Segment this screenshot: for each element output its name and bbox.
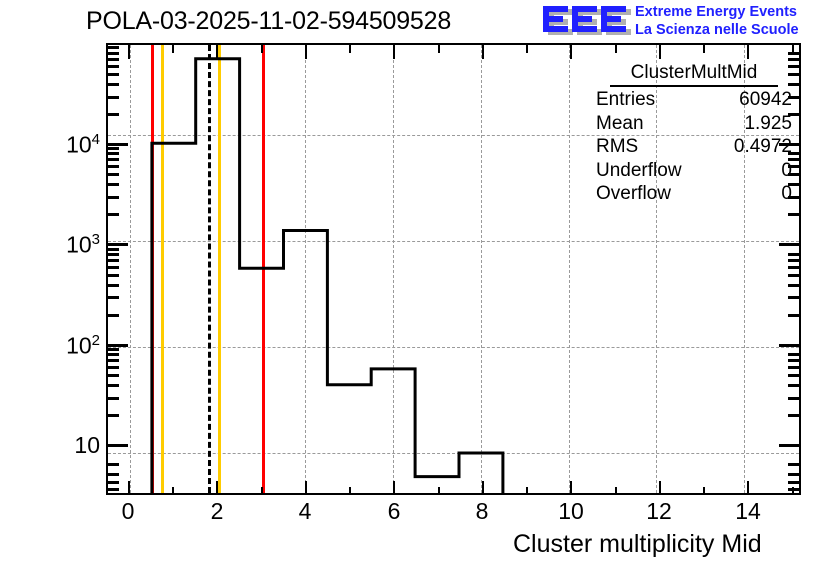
xtick-top-major bbox=[305, 45, 307, 59]
ytick-minor bbox=[106, 314, 119, 317]
eee-logo-text: Extreme Energy Events La Scienza nelle S… bbox=[635, 3, 799, 39]
eee-logo-line2: La Scienza nelle Scuole bbox=[635, 21, 799, 39]
ytick-label-10: 10 bbox=[38, 432, 100, 459]
ytick-minor bbox=[106, 366, 119, 369]
ytick-minor bbox=[106, 165, 119, 168]
ytick-minor bbox=[106, 384, 119, 387]
ytick-minor bbox=[106, 158, 119, 161]
stats-value-entries: 60942 bbox=[739, 88, 792, 112]
ytick-major-100 bbox=[106, 344, 128, 347]
xtick-top-major bbox=[393, 45, 395, 59]
ytick-right-minor bbox=[788, 366, 801, 369]
eee-logo-icon bbox=[543, 4, 631, 40]
ytick-minor bbox=[106, 83, 119, 86]
ytick-minor bbox=[106, 488, 119, 491]
xtick-major bbox=[659, 481, 661, 495]
ytick-right-major bbox=[779, 444, 801, 447]
ytick-right-minor bbox=[788, 353, 801, 356]
xtick-label-4: 4 bbox=[285, 498, 325, 525]
xtick-major bbox=[128, 481, 130, 495]
stats-row-underflow: Underflow 0 bbox=[594, 159, 794, 183]
ytick-minor bbox=[106, 463, 119, 466]
ytick-right-minor bbox=[788, 374, 801, 377]
ytick-minor bbox=[106, 152, 119, 155]
stats-label-mean: Mean bbox=[596, 112, 644, 136]
eee-logo: Extreme Energy Events La Scienza nelle S… bbox=[543, 2, 835, 42]
ytick-minor bbox=[106, 147, 119, 150]
xtick-top-minor bbox=[172, 45, 174, 53]
xtick-label-2: 2 bbox=[197, 498, 237, 525]
ytick-minor bbox=[106, 284, 119, 287]
stats-row-rms: RMS 0.4972 bbox=[594, 135, 794, 159]
xtick-label-0: 0 bbox=[108, 498, 148, 525]
xtick-top-minor bbox=[526, 45, 528, 53]
ytick-right-minor bbox=[788, 314, 801, 317]
xtick-major bbox=[216, 481, 218, 495]
ytick-label-1000: 103 bbox=[30, 231, 100, 259]
stats-row-overflow: Overflow 0 bbox=[594, 182, 794, 206]
stats-title: ClusterMultMid bbox=[610, 62, 778, 87]
ytick-right-minor bbox=[788, 481, 801, 484]
stats-value-overflow: 0 bbox=[781, 182, 792, 206]
ytick-right-minor bbox=[788, 463, 801, 466]
xtick-top-major bbox=[570, 45, 572, 59]
ytick-right-minor bbox=[788, 473, 801, 476]
ytick-minor bbox=[106, 73, 119, 76]
xtick-top-minor bbox=[703, 45, 705, 53]
xtick-minor bbox=[349, 487, 351, 495]
ytick-right-minor bbox=[788, 284, 801, 287]
xtick-top-major bbox=[747, 45, 749, 59]
xtick-major bbox=[305, 481, 307, 495]
xtick-label-10: 10 bbox=[551, 498, 591, 525]
xtick-top-major bbox=[128, 45, 130, 59]
ytick-right-major bbox=[779, 344, 801, 347]
ytick-minor bbox=[106, 414, 119, 417]
xtick-minor bbox=[438, 487, 440, 495]
xtick-minor bbox=[172, 487, 174, 495]
ytick-major-1000 bbox=[106, 243, 128, 246]
ytick-right-minor bbox=[788, 259, 801, 262]
ytick-minor bbox=[106, 183, 119, 186]
xtick-top-minor bbox=[349, 45, 351, 53]
ytick-right-minor bbox=[788, 384, 801, 387]
ytick-minor bbox=[106, 397, 119, 400]
ytick-minor bbox=[106, 58, 119, 61]
eee-logo-line1: Extreme Energy Events bbox=[635, 3, 799, 21]
xtick-major bbox=[570, 481, 572, 495]
ytick-minor bbox=[106, 473, 119, 476]
ytick-minor bbox=[106, 65, 119, 68]
xtick-top-minor bbox=[615, 45, 617, 53]
ytick-label-10000: 104 bbox=[30, 131, 100, 159]
ytick-right-minor bbox=[788, 488, 801, 491]
stats-value-mean: 1.925 bbox=[744, 112, 792, 136]
stats-label-rms: RMS bbox=[596, 135, 638, 159]
xtick-major bbox=[747, 481, 749, 495]
ytick-minor bbox=[106, 46, 119, 49]
xtick-minor bbox=[615, 487, 617, 495]
xtick-top-major bbox=[216, 45, 218, 59]
stats-value-rms: 0.4972 bbox=[734, 135, 792, 159]
ytick-minor bbox=[106, 296, 119, 299]
stats-box: ClusterMultMid Entries 60942 Mean 1.925 … bbox=[594, 62, 794, 206]
ytick-minor bbox=[106, 96, 119, 99]
ytick-right-minor bbox=[788, 52, 801, 55]
xtick-minor bbox=[261, 487, 263, 495]
ytick-minor bbox=[106, 266, 119, 269]
stats-row-entries: Entries 60942 bbox=[594, 88, 794, 112]
ytick-minor bbox=[106, 353, 119, 356]
ytick-major-10 bbox=[106, 444, 128, 447]
ytick-right-minor bbox=[788, 414, 801, 417]
ytick-right-minor bbox=[788, 296, 801, 299]
ytick-minor bbox=[106, 248, 119, 251]
ytick-minor bbox=[106, 274, 119, 277]
xtick-label-6: 6 bbox=[374, 498, 414, 525]
ytick-minor bbox=[106, 253, 119, 256]
xtick-top-minor bbox=[261, 45, 263, 53]
ytick-right-major bbox=[779, 243, 801, 246]
ytick-right-minor bbox=[788, 274, 801, 277]
page-title: POLA-03-2025-11-02-594509528 bbox=[86, 7, 451, 36]
xtick-top-major bbox=[659, 45, 661, 59]
ytick-right-minor bbox=[788, 397, 801, 400]
stats-label-underflow: Underflow bbox=[596, 159, 682, 183]
xtick-label-12: 12 bbox=[639, 498, 679, 525]
ytick-minor bbox=[106, 196, 119, 199]
ytick-major-10000 bbox=[106, 143, 128, 146]
ytick-right-minor bbox=[788, 266, 801, 269]
xtick-minor bbox=[703, 487, 705, 495]
ytick-label-100: 102 bbox=[30, 332, 100, 360]
ytick-right-minor bbox=[788, 253, 801, 256]
xtick-label-14: 14 bbox=[728, 498, 768, 525]
chart-canvas: POLA-03-2025-11-02-594509528 bbox=[0, 0, 836, 572]
ytick-right-minor bbox=[788, 213, 801, 216]
xtick-major bbox=[393, 481, 395, 495]
xtick-minor bbox=[526, 487, 528, 495]
ytick-minor bbox=[106, 348, 119, 351]
stats-label-overflow: Overflow bbox=[596, 182, 671, 206]
ytick-minor bbox=[106, 213, 119, 216]
xtick-label-8: 8 bbox=[462, 498, 502, 525]
ytick-right-minor bbox=[788, 359, 801, 362]
x-axis-title: Cluster multiplicity Mid bbox=[513, 530, 762, 559]
stats-value-underflow: 0 bbox=[781, 159, 792, 183]
ytick-minor bbox=[106, 359, 119, 362]
ytick-minor bbox=[106, 374, 119, 377]
xtick-top-major bbox=[482, 45, 484, 59]
ytick-minor bbox=[106, 173, 119, 176]
ytick-minor bbox=[106, 259, 119, 262]
xtick-major bbox=[482, 481, 484, 495]
ytick-right-minor bbox=[788, 58, 801, 61]
stats-label-entries: Entries bbox=[596, 88, 655, 112]
ytick-minor bbox=[106, 52, 119, 55]
ytick-minor bbox=[106, 481, 119, 484]
ytick-minor bbox=[106, 113, 119, 116]
stats-row-mean: Mean 1.925 bbox=[594, 112, 794, 136]
xtick-top-minor bbox=[438, 45, 440, 53]
